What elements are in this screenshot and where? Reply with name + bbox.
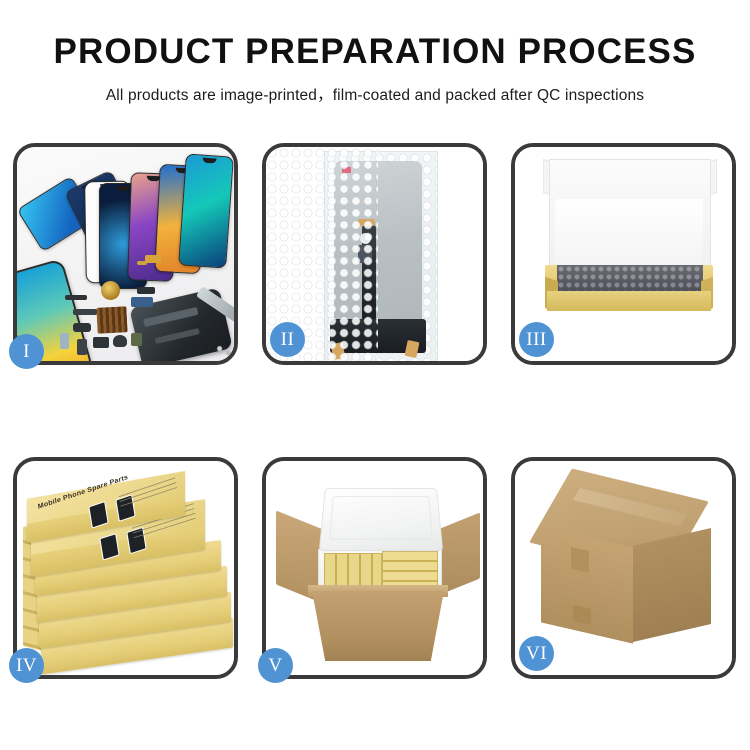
process-step-panel-4: Mobile Phone Spare Parts Mobile Phone Sp… — [13, 457, 238, 679]
spare-part — [145, 255, 161, 263]
speaker-coil-part — [101, 281, 120, 300]
spare-part — [93, 337, 109, 348]
connector-grid-part — [96, 306, 127, 334]
process-step-panel-6: VI — [511, 457, 736, 679]
step-5-image — [266, 461, 483, 675]
screen-thumbnail — [99, 533, 119, 560]
box-front-panel — [547, 291, 711, 311]
foam-cooler-lid — [319, 488, 443, 551]
page-subtitle: All products are image-printed，film-coat… — [0, 83, 750, 105]
step-number-badge-6: VI — [519, 636, 554, 671]
spare-part — [131, 297, 153, 307]
retail-box-stack: Mobile Phone Spare Parts Mobile Phone Sp… — [21, 479, 234, 669]
carton-tab-upper — [571, 547, 589, 573]
page-header: PRODUCT PREPARATION PROCESS All products… — [0, 0, 750, 105]
foam-sheet — [555, 199, 703, 271]
screen-thumbnail — [88, 501, 108, 529]
bubble-texture — [557, 265, 703, 291]
step-1-image — [17, 147, 234, 361]
spare-part — [60, 333, 69, 349]
carton-body — [312, 591, 444, 661]
step-number-badge-3: III — [519, 322, 554, 357]
bubble-wrapped-contents — [557, 265, 703, 291]
process-step-panel-2: II — [262, 143, 487, 365]
spare-part — [113, 335, 127, 347]
step-number-badge-4: IV — [9, 648, 44, 683]
spare-part — [65, 295, 87, 300]
spare-part — [131, 333, 142, 346]
step-4-image: Mobile Phone Spare Parts Mobile Phone Sp… — [17, 461, 234, 675]
process-step-panel-5: V — [262, 457, 487, 679]
spare-part — [77, 339, 87, 355]
spare-part — [73, 309, 97, 315]
screws-part — [213, 343, 234, 357]
spare-part — [73, 323, 91, 332]
spare-part — [137, 261, 147, 265]
carton-left-face — [541, 526, 633, 643]
process-steps-grid: I II — [13, 143, 737, 679]
process-step-panel-1: I — [13, 143, 238, 365]
spare-part — [137, 287, 155, 294]
carton-right-face — [633, 528, 711, 642]
step-number-badge-5: V — [258, 648, 293, 683]
phone-screen-teal-wallpaper — [178, 153, 234, 268]
process-step-panel-3: III — [511, 143, 736, 365]
step-number-badge-1: I — [9, 334, 44, 369]
step-number-badge-2: II — [270, 322, 305, 357]
page-title: PRODUCT PREPARATION PROCESS — [0, 34, 750, 69]
